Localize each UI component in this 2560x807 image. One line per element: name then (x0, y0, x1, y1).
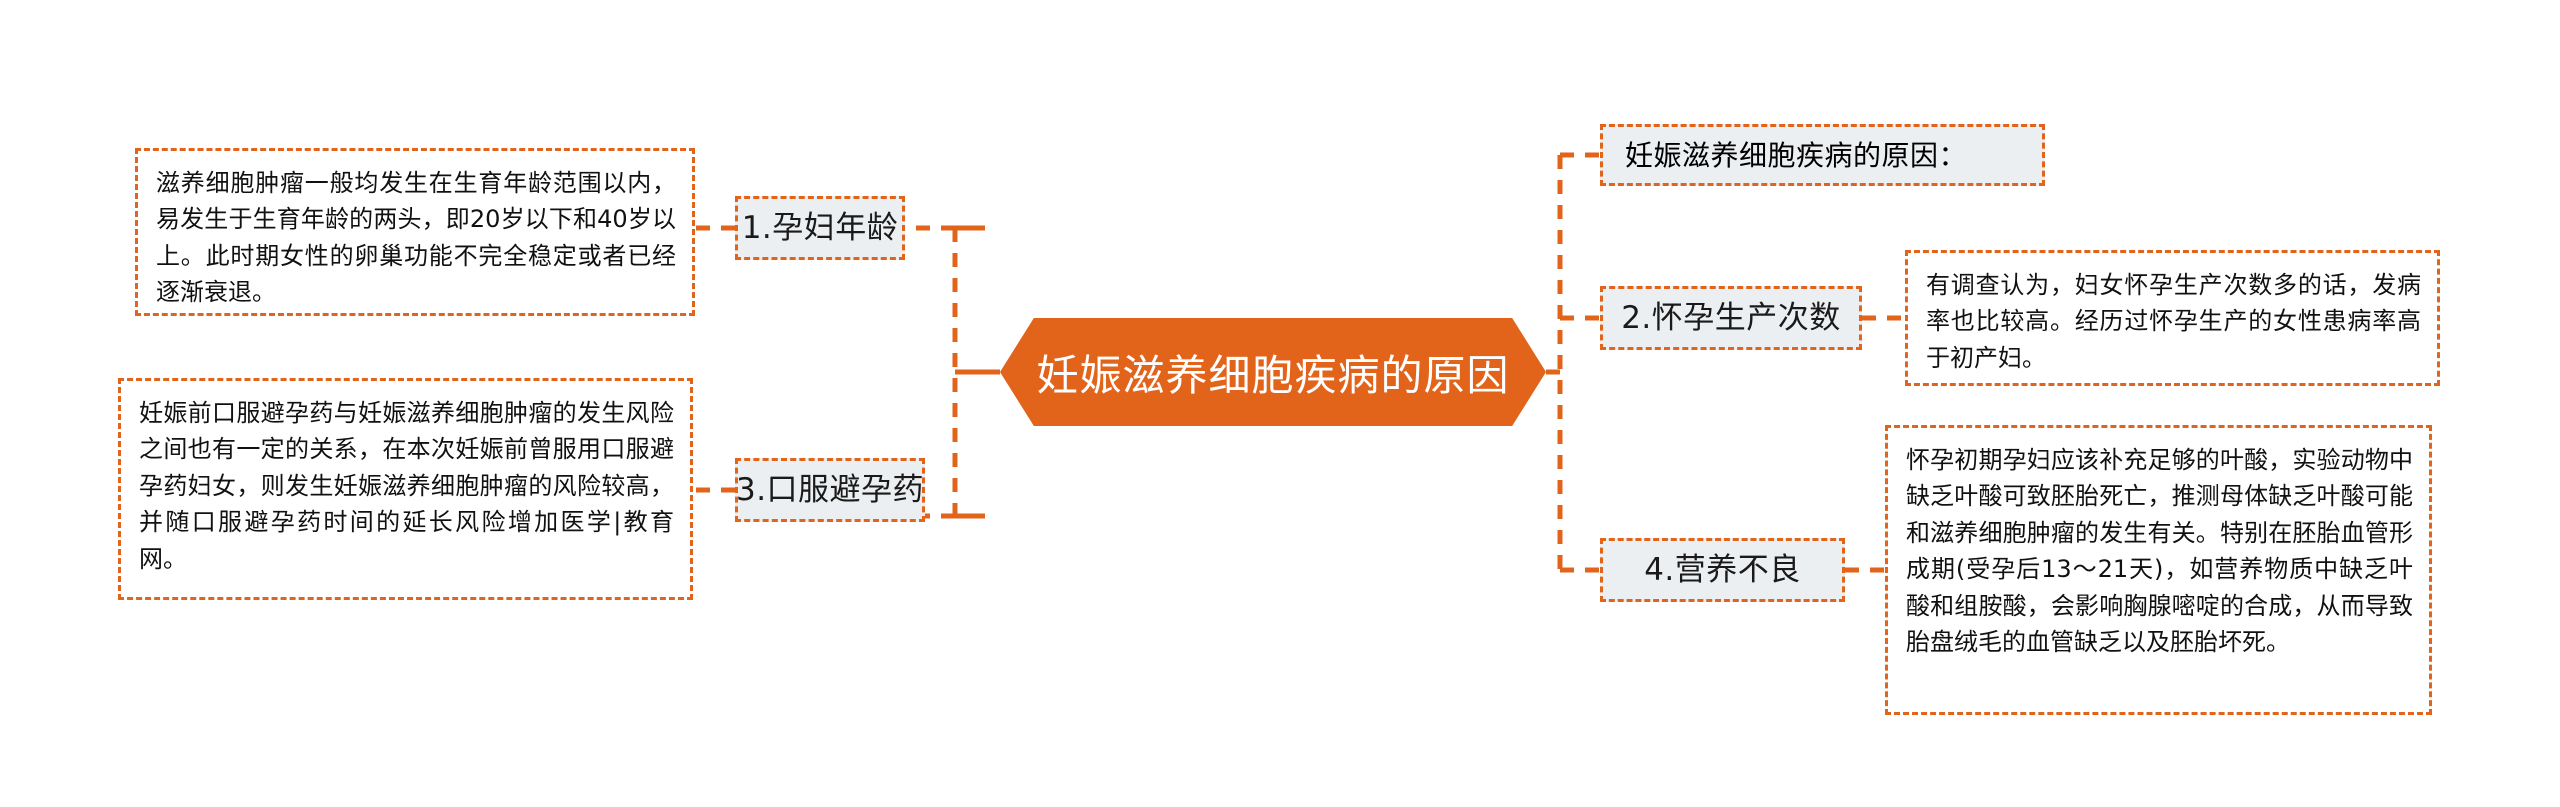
center-node[interactable]: 妊娠滋养细胞疾病的原因 (1000, 318, 1546, 426)
left-detail-text-1: 滋养细胞肿瘤一般均发生在生育年龄范围以内，易发生于生育年龄的两头，即20岁以下和… (156, 165, 676, 311)
mindmap-canvas: 妊娠滋养细胞疾病的原因 滋养细胞肿瘤一般均发生在生育年龄范围以内，易发生于生育年… (0, 0, 2560, 807)
left-detail-box-1: 滋养细胞肿瘤一般均发生在生育年龄范围以内，易发生于生育年龄的两头，即20岁以下和… (135, 148, 695, 316)
left-node-3[interactable]: 3.口服避孕药 (735, 458, 925, 522)
left-detail-text-3: 妊娠前口服避孕药与妊娠滋养细胞肿瘤的发生风险之间也有一定的关系，在本次妊娠前曾服… (139, 395, 674, 577)
right-node-2[interactable]: 2.怀孕生产次数 (1600, 286, 1862, 350)
right-node-header-label: 妊娠滋养细胞疾病的原因： (1625, 138, 1967, 173)
right-detail-box-2: 有调查认为，妇女怀孕生产次数多的话，发病率也比较高。经历过怀孕生产的女性患病率高… (1905, 250, 2440, 386)
right-node-4[interactable]: 4.营养不良 (1600, 538, 1845, 602)
center-node-title: 妊娠滋养细胞疾病的原因 (1036, 342, 1509, 403)
left-node-3-label: 3.口服避孕药 (736, 471, 924, 510)
right-detail-box-4: 怀孕初期孕妇应该补充足够的叶酸，实验动物中缺乏叶酸可致胚胎死亡，推测母体缺乏叶酸… (1885, 425, 2432, 715)
right-detail-text-4: 怀孕初期孕妇应该补充足够的叶酸，实验动物中缺乏叶酸可致胚胎死亡，推测母体缺乏叶酸… (1906, 442, 2413, 661)
left-node-1-label: 1.孕妇年龄 (742, 209, 899, 248)
right-detail-text-2: 有调查认为，妇女怀孕生产次数多的话，发病率也比较高。经历过怀孕生产的女性患病率高… (1926, 267, 2421, 376)
right-node-4-label: 4.营养不良 (1644, 551, 1801, 590)
right-node-header[interactable]: 妊娠滋养细胞疾病的原因： (1600, 124, 2045, 186)
left-detail-box-3: 妊娠前口服避孕药与妊娠滋养细胞肿瘤的发生风险之间也有一定的关系，在本次妊娠前曾服… (118, 378, 693, 600)
left-node-1[interactable]: 1.孕妇年龄 (735, 196, 905, 260)
right-node-2-label: 2.怀孕生产次数 (1621, 299, 1841, 338)
